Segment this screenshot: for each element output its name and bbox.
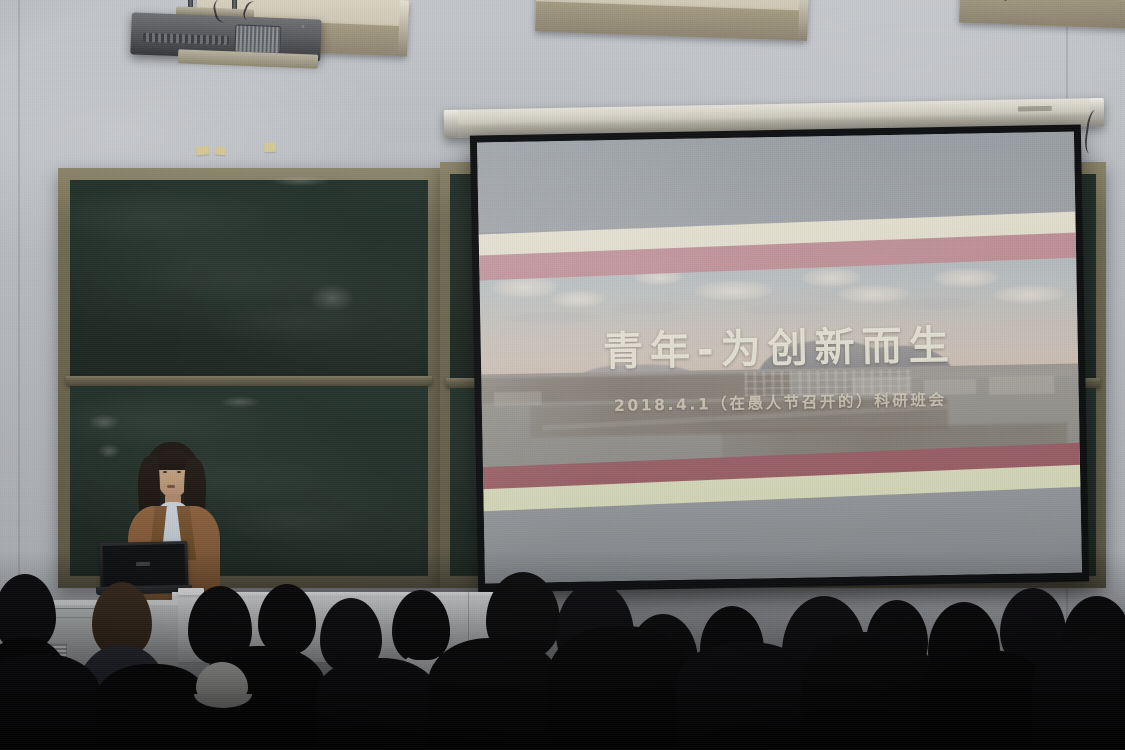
wall-tape-mark — [196, 145, 210, 155]
presentation-slide: 青年-为创新而生 2018.4.1（在愚人节召开的）科研班会 — [477, 132, 1082, 584]
chalkboard-surface-upper — [70, 180, 428, 380]
audience-head — [0, 654, 100, 750]
projector-lamp-vent — [143, 33, 229, 45]
audience-head — [676, 642, 814, 750]
wall-seam-left — [18, 0, 20, 620]
projection-screen[interactable]: 青年-为创新而生 2018.4.1（在愚人节召开的）科研班会 — [470, 124, 1089, 592]
chalk-smudge — [220, 396, 260, 408]
projection-screen-surface: 青年-为创新而生 2018.4.1（在愚人节召开的）科研班会 — [477, 132, 1082, 584]
slide-title: 青年-为创新而生 — [480, 310, 1078, 379]
audience-head — [802, 632, 936, 750]
presenter-eye — [177, 471, 181, 473]
projector-screw — [301, 25, 304, 28]
lecture-hall-photo: 青年-为创新而生 2018.4.1（在愚人节召开的）科研班会 — [0, 0, 1125, 750]
presenter-mouth — [167, 485, 175, 488]
wall-tape-mark — [215, 147, 227, 156]
audience-head — [428, 638, 560, 750]
chalk-smudge — [310, 284, 354, 312]
audience-head — [316, 658, 438, 750]
audience-head — [92, 582, 152, 656]
projector-side-vent — [234, 24, 281, 54]
audience-head — [258, 584, 316, 654]
audience — [0, 550, 1125, 750]
chalkboard-rail — [66, 376, 432, 385]
wall-tape-mark — [264, 143, 276, 153]
audience-head — [920, 650, 1048, 750]
audience-head — [96, 664, 208, 750]
audience-head — [1032, 638, 1125, 750]
audience-head — [548, 626, 692, 750]
chalk-smudge — [270, 176, 330, 186]
chalk-smudge — [88, 414, 120, 430]
chalkboard-left — [58, 168, 440, 588]
housing-end-cap-left — [444, 110, 459, 138]
housing-brand-label — [1018, 106, 1052, 112]
chalk-smudge — [98, 444, 120, 458]
presenter-eye — [163, 471, 167, 473]
